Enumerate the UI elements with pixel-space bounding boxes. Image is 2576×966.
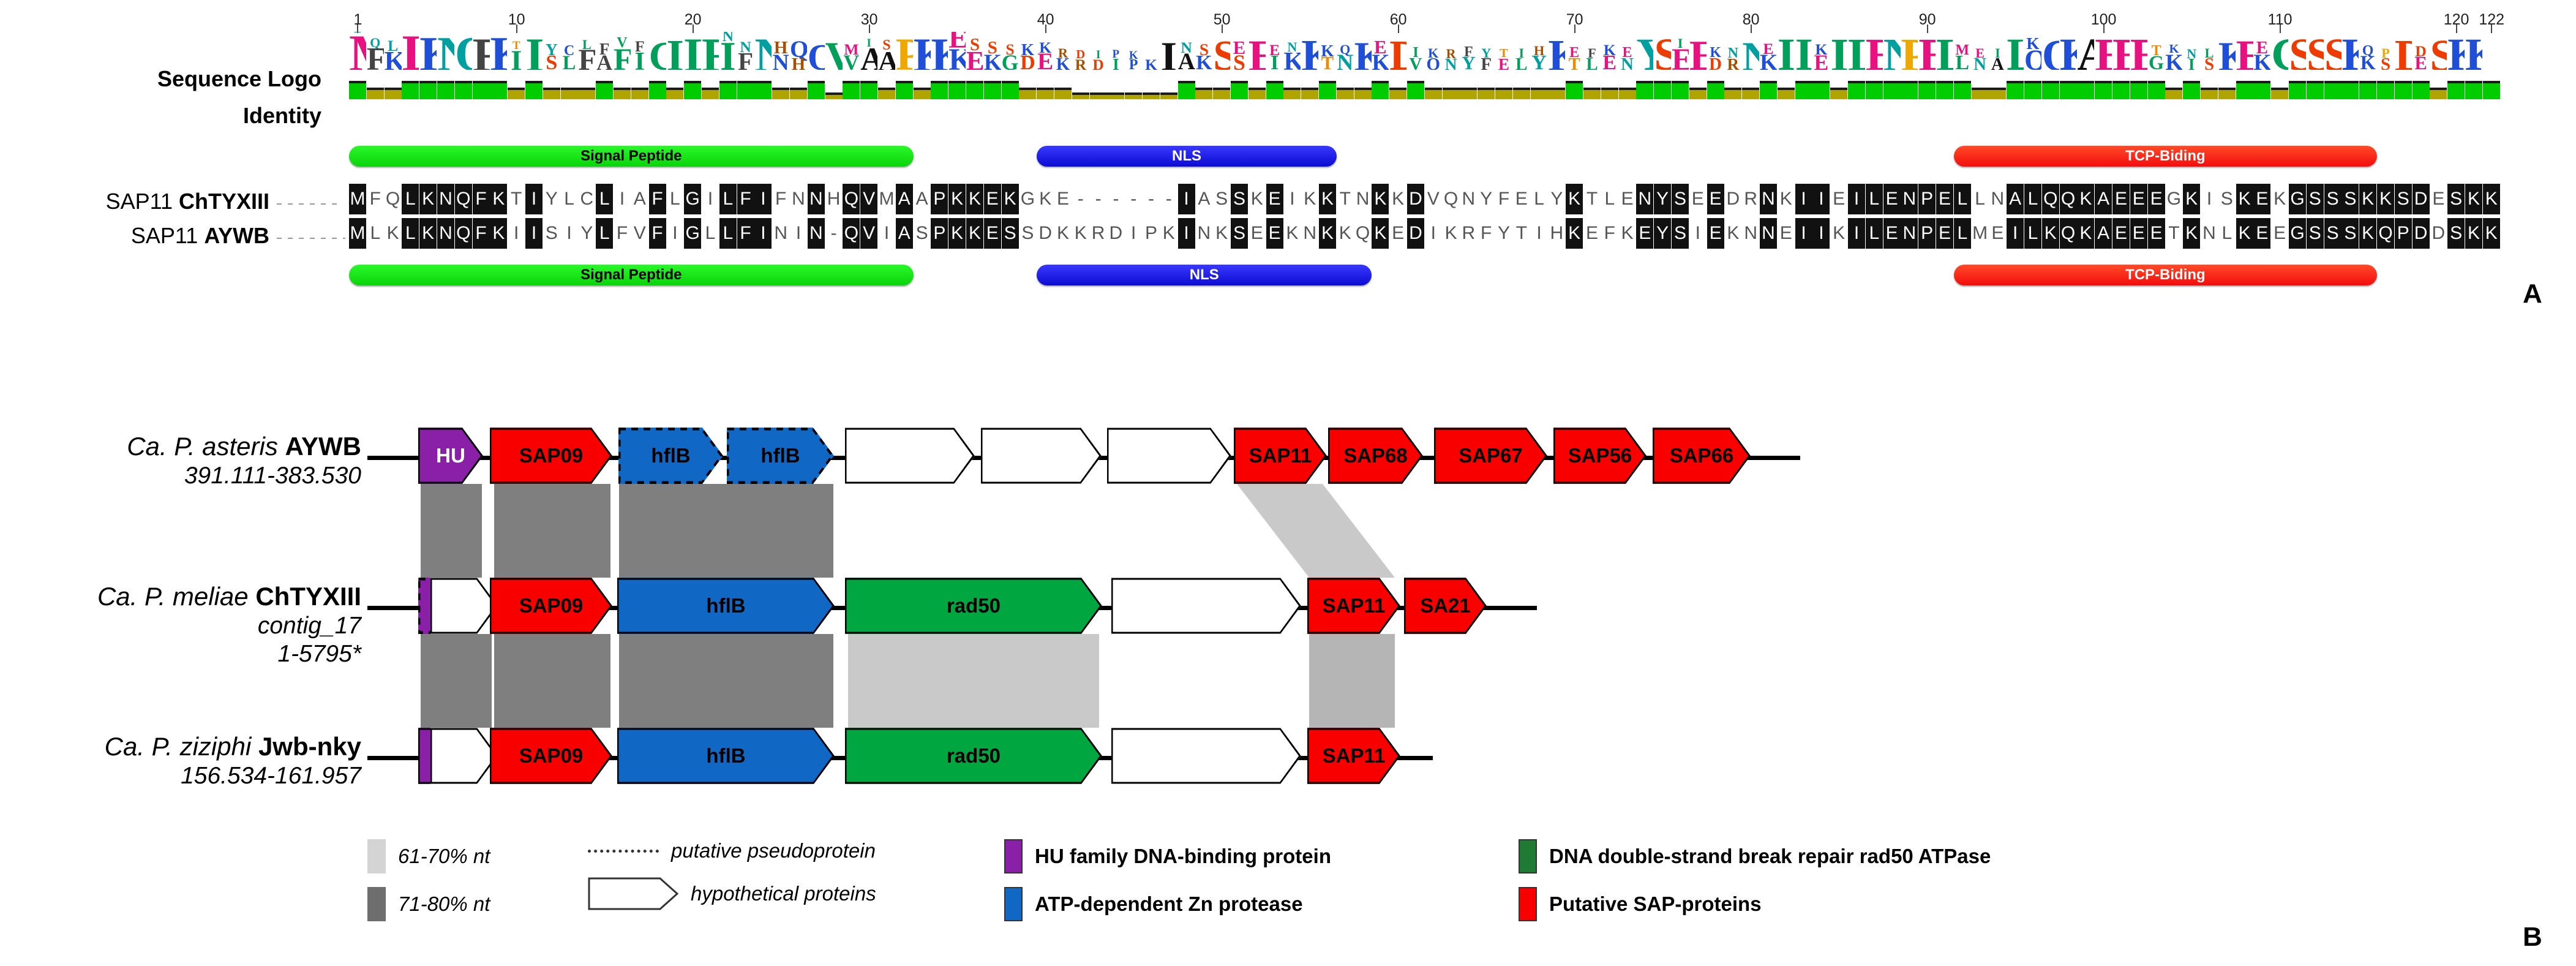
identity-bar (2007, 81, 2024, 99)
sequence-logo-column: VI (1407, 32, 1424, 70)
gene-arrow-sap66[interactable]: SAP66 (1653, 428, 1751, 484)
identity-bar (1707, 81, 1724, 99)
sequence-logo-glyph: D (2395, 38, 2412, 70)
identity-bar-cap (649, 81, 666, 83)
alignment-residue: K (1778, 184, 1795, 214)
identity-bar (349, 81, 366, 99)
gene-arrow-hypothetical[interactable] (1107, 428, 1231, 484)
identity-bar (1460, 88, 1477, 99)
alignment-residue: I (614, 184, 631, 214)
alignment-residue: E (2430, 184, 2447, 214)
gene-arrow-outline (1307, 728, 1400, 784)
sequence-logo-glyph: K (2165, 54, 2182, 70)
sequence-logo-glyph: I (719, 41, 737, 70)
sequence-logo-glyph: K (2465, 37, 2482, 70)
alignment-residue: I (1795, 184, 1812, 214)
alignment-residue: N (1760, 218, 1777, 249)
alignment-residue: G (684, 218, 701, 249)
sequence-logo-column: KS (1195, 32, 1212, 70)
sequence-logo-column: PK (1125, 32, 1142, 70)
identity-bar-cap (1972, 88, 1989, 90)
sequence-logo-glyph: A (1178, 53, 1195, 70)
alignment-residue: E (2253, 218, 2270, 249)
identity-bar (1531, 88, 1548, 99)
alignment-residue: N (772, 218, 789, 249)
alignment-residue: E (1266, 184, 1283, 214)
alignment-residue: I (1848, 184, 1865, 214)
gene-arrow-sap09[interactable]: SAP09 (490, 428, 612, 484)
sequence-logo-column: K (2218, 32, 2236, 70)
alignment-residue: S (2395, 184, 2412, 214)
alignment-residue: S (543, 218, 560, 249)
identity-bar (2324, 81, 2341, 99)
similarity-band (421, 484, 482, 578)
alignment-residue: I (525, 184, 543, 214)
alignment-residue: K (2183, 184, 2200, 214)
alignment-residue: K (2077, 218, 2094, 249)
identity-bar (1972, 88, 1989, 99)
gene-arrow-outline (1307, 578, 1400, 634)
alignment-residue: I (1812, 184, 1830, 214)
identity-bar-cap (1372, 81, 1389, 83)
panel-b-letter: B (2523, 922, 2542, 953)
alignment-residue: N (1301, 218, 1318, 249)
alignment-residue: N (1354, 184, 1372, 214)
sequence-logo-column: N (1742, 32, 1759, 70)
identity-bar (2130, 81, 2147, 99)
identity-bar (2447, 81, 2465, 99)
identity-bar-cap (1002, 81, 1019, 83)
gene-arrow-hflb[interactable]: hflB (727, 428, 834, 484)
sequence-logo-column: FL (578, 32, 595, 70)
sequence-logo-column: LI (1513, 32, 1530, 70)
strain-coordinates: 1-5795* (0, 640, 361, 668)
alignment-residue: I (1795, 218, 1812, 249)
strain-label: Ca. P. meliae ChTYXIIIcontig_171-5795* (0, 581, 361, 668)
identity-bar (684, 81, 701, 99)
sequence-label-leader (277, 203, 338, 205)
sequence-logo-column: E (1689, 32, 1707, 70)
identity-bar (2341, 81, 2359, 99)
identity-bar-cap (790, 88, 807, 90)
sequence-logo-column: D (1389, 32, 1406, 70)
alignment-residue: K (1566, 184, 1583, 214)
sequence-logo-column: K (914, 32, 931, 70)
legend-label: Putative SAP-proteins (1549, 892, 1762, 916)
sequence-logo-glyph: Y (1636, 37, 1653, 70)
alignment-residue: K (2377, 184, 2394, 214)
sequence-logo-glyph: E (2095, 37, 2112, 70)
alignment-residue: E (984, 184, 1001, 214)
identity-bar-cap (1566, 81, 1583, 83)
sequence-logo-glyph: E (1866, 37, 1883, 70)
alignment-residue: K (385, 218, 402, 249)
sequence-logo-column: KN (1283, 32, 1301, 70)
gene-arrow-outline (617, 578, 835, 634)
alignment-residue: S (1672, 184, 1689, 214)
identity-bar-cap (1495, 88, 1512, 90)
alignment-residue: Q (2377, 218, 2394, 249)
gene-arrow-sap67[interactable]: SAP67 (1434, 428, 1547, 484)
sequence-logo-column: NQ (1337, 32, 1354, 70)
identity-bar-cap (455, 81, 472, 83)
identity-bar-cap (1178, 81, 1195, 83)
gene-arrow-sap09[interactable]: SAP09 (490, 728, 612, 784)
sequence-logo-column: I (1778, 32, 1795, 70)
sequence-logo-column: G (2271, 32, 2288, 70)
alignment-residue: Y (578, 218, 595, 249)
sequence-logo-glyph: K (1301, 38, 1318, 70)
alignment-residue: T (2165, 218, 2182, 249)
sequence-logo-column: KK (2165, 32, 2182, 70)
identity-bar (2253, 81, 2270, 99)
sequence-logo-column: IN (2183, 32, 2200, 70)
alignment-residue: I (1531, 218, 1548, 249)
alignment-residue: S (1672, 218, 1689, 249)
sequence-logo-column: AI (860, 32, 877, 70)
alignment-residue: Q (385, 184, 402, 214)
sequence-logo-glyph: D (1389, 40, 1406, 70)
gene-arrow-outline (1404, 578, 1487, 634)
alignment-residue: G (684, 184, 701, 214)
legend-color-swatch (367, 887, 386, 921)
identity-bar (772, 88, 789, 99)
gene-arrow-sap11[interactable]: SAP11 (1307, 728, 1400, 784)
alignment-residue: P (1143, 218, 1160, 249)
sequence-logo-glyph: I (525, 36, 543, 70)
identity-bar (437, 81, 454, 99)
identity-bar-cap (596, 81, 613, 83)
sequence-logo-column: DK (1707, 32, 1724, 70)
alignment-residue: L (1866, 184, 1883, 214)
identity-bar-cap (966, 81, 983, 83)
gene-arrow-outline (617, 728, 835, 784)
sequence-logo-column: RD (1072, 32, 1089, 70)
sequence-logo-column: L (684, 32, 701, 70)
identity-bar-cap (984, 81, 1001, 83)
identity-bar (649, 81, 666, 99)
legend-dashed-line (588, 850, 659, 853)
identity-bar-cap (808, 81, 825, 83)
sequence-logo-glyph: K (385, 51, 402, 70)
sequence-logo-glyph: L (684, 36, 701, 70)
alignment-residue: L (561, 184, 578, 214)
alignment-residue: S (2447, 218, 2465, 249)
alignment-residue: K (1619, 218, 1636, 249)
alignment-residue: E (1707, 184, 1724, 214)
identity-bar (631, 88, 648, 99)
sequence-logo-glyph: N (1972, 58, 1989, 70)
sequence-logo-column: E (2095, 32, 2112, 70)
gene-arrow-sap56[interactable]: SAP56 (1553, 428, 1647, 484)
identity-bar (2024, 81, 2041, 99)
alignment-residue: I (1812, 218, 1830, 249)
identity-bar (2112, 81, 2130, 99)
gene-arrow-outline (430, 578, 498, 634)
alignment-residue: F (614, 218, 631, 249)
sequence-logo-column: TK (1319, 32, 1336, 70)
gene-arrow-hypothetical[interactable] (845, 428, 975, 484)
identity-bar-cap (1019, 88, 1036, 90)
alignment-residue: K (2183, 218, 2200, 249)
identity-bar-cap (578, 88, 595, 90)
alignment-residue: E (984, 218, 1001, 249)
identity-bar (1724, 88, 1741, 99)
identity-bar (1760, 81, 1777, 99)
identity-bar-cap (1583, 88, 1601, 90)
identity-bar-cap (737, 81, 754, 83)
identity-bar-cap (631, 88, 648, 90)
legend-color-swatch (1004, 887, 1023, 921)
sequence-logo-glyph: E (1918, 37, 1936, 70)
sequence-logo-glyph: F (473, 36, 490, 70)
alignment-residue: N (808, 184, 825, 214)
sequence-logo-glyph: S (2289, 37, 2306, 70)
sequence-logo-column: K (2447, 32, 2465, 70)
alignment-residue: N (1195, 218, 1212, 249)
identity-bar (1443, 88, 1460, 99)
alignment-residue: K (966, 184, 983, 214)
alignment-residue: A (914, 184, 931, 214)
gene-arrow-sap09[interactable]: SAP09 (490, 578, 612, 634)
identity-bar (614, 88, 631, 99)
sequence-logo-column: NH (772, 32, 789, 70)
identity-bar-cap (719, 81, 737, 83)
sequence-logo-glyph: H (790, 58, 807, 70)
sequence-logo-glyph: F (1478, 58, 1495, 70)
identity-bar-cap (2077, 81, 2094, 83)
alignment-residue: Y (1654, 184, 1671, 214)
sequence-logo-glyph: L (1513, 58, 1530, 70)
identity-bar (808, 81, 825, 99)
sequence-logo-column: YF (1460, 32, 1477, 70)
alignment-residue: F (367, 184, 384, 214)
identity-bar (1672, 81, 1689, 99)
alignment-residue: - (1125, 184, 1142, 214)
identity-bar-cap (878, 88, 895, 90)
identity-bar (1072, 92, 1089, 99)
gene-arrow-outline (845, 728, 1102, 784)
sequence-logo-glyph: V (1407, 58, 1424, 70)
sequence-logo-column: E (2130, 32, 2147, 70)
alignment-residue: A (631, 184, 648, 214)
sequence-logo-glyph: V (825, 40, 843, 70)
sequence-logo-glyph: L (1936, 37, 1953, 70)
sequence-logo-column: K (2465, 32, 2482, 70)
sequence-logo-glyph: K (1372, 54, 1389, 70)
sequence-logo-glyph: I (1778, 37, 1795, 70)
identity-bar-cap (525, 81, 543, 83)
gene-arrow-hflb[interactable]: hflB (617, 578, 835, 634)
sequence-logo-glyph: P (1125, 59, 1142, 70)
alignment-row: MLKLKNQFKIISIYLFVFIGLLFININ-QVIASPKKESSD… (349, 218, 2501, 249)
identity-bar (1037, 88, 1054, 99)
sequence-logo-column: I (1830, 32, 1847, 70)
alignment-residue: I (754, 218, 772, 249)
alignment-residue: E (1936, 218, 1953, 249)
alignment-residue: A (2095, 218, 2112, 249)
sequence-logo-glyph: S (1213, 40, 1230, 70)
sequence-logo-glyph: S (2430, 38, 2447, 70)
sequence-logo-column: K (2341, 32, 2359, 70)
sequence-logo-glyph: D (1019, 55, 1036, 70)
identity-bar-cap (385, 88, 402, 90)
sequence-logo-glyph: G (1002, 55, 1019, 70)
sequence-logo-glyph: S (2324, 37, 2341, 70)
alignment-residue: M (349, 184, 366, 214)
identity-bar (860, 81, 877, 99)
gene-arrow-hypothetical[interactable] (981, 428, 1102, 484)
alignment-residue: R (1742, 184, 1759, 214)
alignment-residue: S (2324, 218, 2341, 249)
gene-arrow-hflb[interactable]: hflB (617, 728, 835, 784)
sequence-logo-column: NE (1972, 32, 1989, 70)
legend-item: putative pseudoprotein (588, 839, 876, 862)
identity-bar-cap (666, 88, 683, 90)
alignment-residue: I (2007, 218, 2024, 249)
sequence-logo-column: E (2112, 32, 2130, 70)
identity-bar (1107, 92, 1124, 99)
gene-arrow-rad50[interactable]: rad50 (845, 578, 1102, 634)
alignment-residue: P (2395, 218, 2412, 249)
identity-bar (737, 81, 754, 99)
sequence-logo-column: S (2430, 32, 2447, 70)
gene-arrow-hypothetical[interactable] (430, 728, 498, 784)
identity-row-label: Identity (0, 103, 321, 129)
alignment-residue: L (2024, 184, 2041, 214)
sequence-logo-column: V (825, 32, 843, 70)
identity-bar (1918, 81, 1936, 99)
alignment-residue: N (2201, 218, 2218, 249)
sequence-logo-column: ED (2413, 32, 2430, 70)
gene-arrow-rad50[interactable]: rad50 (845, 728, 1102, 784)
identity-bar-cap (1672, 81, 1689, 83)
identity-bar (455, 81, 472, 99)
legend-item: DNA double-strand break repair rad50 ATP… (1519, 839, 1991, 874)
identity-bar (1778, 88, 1795, 99)
alignment-residue: E (2130, 218, 2147, 249)
gene-arrow-hypothetical[interactable] (1111, 578, 1301, 634)
sequence-logo-glyph: K (2341, 37, 2359, 70)
alignment-residue: N (1989, 184, 2006, 214)
alignment-residue: S (914, 218, 931, 249)
gene-arrow-outline (1234, 428, 1327, 484)
alignment-residue: N (1901, 184, 1918, 214)
identity-bar-cap (2377, 81, 2394, 83)
gene-arrow-sa21[interactable]: SA21 (1404, 578, 1487, 634)
alignment-residue: I (508, 218, 525, 249)
gene-arrow-sap68[interactable]: SAP68 (1328, 428, 1423, 484)
identity-bar (843, 81, 860, 99)
sequence-logo-glyph: K (948, 48, 966, 70)
gene-arrow-hu[interactable]: HU (418, 428, 483, 484)
alignment-residue: M (1972, 218, 1989, 249)
alignment-residue: L (702, 218, 719, 249)
alignment-residue: F (1495, 184, 1512, 214)
identity-bar (1283, 88, 1301, 99)
alignment-residue: I (1178, 184, 1195, 214)
identity-bar-cap (508, 88, 525, 90)
sequence-logo-glyph: D (1090, 59, 1107, 70)
sequence-logo-glyph: S (2307, 37, 2324, 70)
gene-arrow-sap11[interactable]: SAP11 (1234, 428, 1327, 484)
sequence-logo-glyph: G (649, 41, 666, 70)
identity-bar (878, 88, 895, 99)
strain-label: Ca. P. ziziphi Jwb-nky156.534-161.957 (0, 731, 361, 790)
identity-bar (1249, 88, 1266, 99)
alignment-residue: L (719, 184, 737, 214)
alignment-residue: E (1389, 218, 1406, 249)
similarity-band (619, 484, 833, 578)
gene-arrow-hypothetical[interactable] (1111, 728, 1301, 784)
identity-bar (2307, 81, 2324, 99)
alignment-residue: F (1601, 218, 1618, 249)
alignment-residue: K (2271, 184, 2288, 214)
identity-bar-cap (1689, 88, 1707, 90)
identity-bar-cap (1654, 81, 1671, 83)
sequence-logo-column: FY (1478, 32, 1495, 70)
gene-arrow-hflb[interactable]: hflB (618, 428, 723, 484)
identity-bar (1372, 81, 1389, 99)
sequence-logo-glyph: F (614, 48, 631, 70)
sequence-logo-column: K (1354, 32, 1372, 70)
identity-bar-cap (2289, 81, 2306, 83)
alignment-residue: T (1583, 184, 1601, 214)
sequence-logo-column: AN (1178, 32, 1195, 70)
gene-arrow-hypothetical[interactable] (430, 578, 498, 634)
alignment-row: MFQLKNQFKTIYLCLIAFLGILFIFNNHQVMAAPKKEKGK… (349, 184, 2501, 214)
alignment-residue: K (490, 218, 507, 249)
alignment-residue: N (1742, 218, 1759, 249)
alignment-residue: Y (1478, 184, 1495, 214)
alignment-residue: Q (2060, 218, 2077, 249)
alignment-residue: N (1760, 184, 1777, 214)
identity-bar-cap (1283, 88, 1301, 90)
legend-column: DNA double-strand break repair rad50 ATP… (1519, 839, 1991, 935)
panel-b-gene-synteny: Ca. P. asteris AYWB391.111-383.530HUSAP0… (0, 368, 2576, 966)
sequence-logo-glyph: D (1707, 58, 1724, 70)
gene-arrow-sap11[interactable]: SAP11 (1307, 578, 1400, 634)
alignment-residue: I (790, 218, 807, 249)
sequence-logo-glyph: I (2183, 58, 2200, 70)
sequence-logo-glyph: Y (1460, 56, 1477, 70)
alignment-residue: Q (1354, 218, 1372, 249)
identity-bar-cap (1619, 88, 1636, 90)
sequence-logo-column: N (1883, 32, 1901, 70)
identity-bar-cap (1460, 88, 1477, 90)
sequence-logo-column: A (2077, 32, 2094, 70)
identity-bar-cap (2183, 81, 2200, 83)
identity-bar (1513, 88, 1530, 99)
feature-bar-tcp: TCP-Biding (1954, 265, 2377, 285)
identity-bar-cap (2007, 81, 2024, 83)
identity-bar (2077, 81, 2094, 99)
sequence-logo-glyph: V (843, 55, 860, 70)
legend-label: hypothetical proteins (691, 882, 876, 905)
gene-arrow-outline (430, 728, 498, 784)
alignment-residue: I (1283, 184, 1301, 214)
identity-bar (2395, 81, 2412, 99)
identity-bar (2271, 88, 2288, 99)
sequence-logo-glyph: E (1249, 39, 1266, 70)
alignment-residue: L (402, 184, 419, 214)
alignment-residue: I (1848, 218, 1865, 249)
sequence-logo-glyph: E (1601, 55, 1618, 70)
alignment-residue: F (473, 184, 490, 214)
identity-bar-cap (1249, 88, 1266, 90)
alignment-residue: P (931, 184, 948, 214)
sequence-logo-column: K (931, 32, 948, 70)
